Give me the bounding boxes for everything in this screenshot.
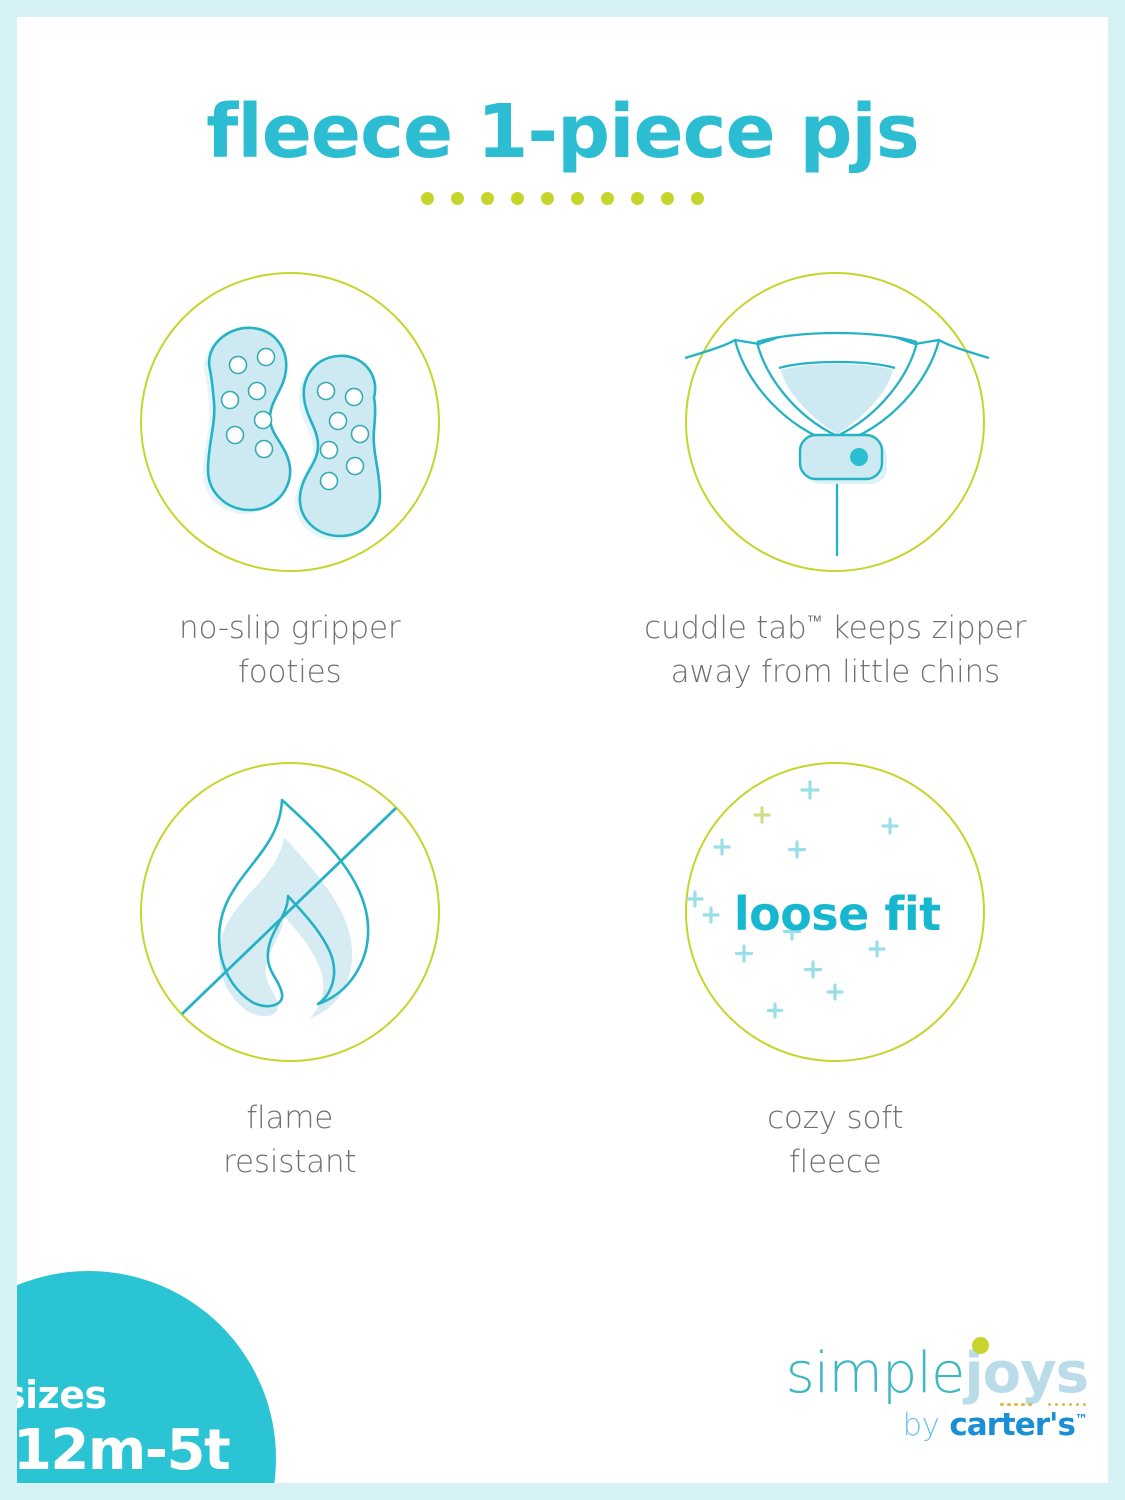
feature-cuddle-tab: cuddle tab™ keeps zipper away from littl… <box>563 272 1109 694</box>
loose-fit-badge-text: loose fit <box>687 764 987 1064</box>
caption-line-1: cuddle tab <box>644 610 806 646</box>
divider-dot <box>661 192 674 205</box>
sizes-range-line: + 12m-5t <box>17 1420 229 1482</box>
caption-line-2: away from little chins <box>671 654 1000 690</box>
feature-row-1: no-slip gripper footies <box>17 272 1108 694</box>
logo-joys: joys <box>964 1341 1088 1406</box>
feature-icon-circle <box>685 272 985 572</box>
logo-wordmark: simplejoys <box>786 1346 1088 1402</box>
logo-byline: by carter's™ <box>786 1410 1088 1441</box>
divider-dot <box>511 192 524 205</box>
cuddle-tab-zipper-icon <box>687 274 987 574</box>
feature-caption: cozy soft fleece <box>767 1096 903 1184</box>
caption-line-1: cozy soft <box>767 1100 903 1136</box>
feature-row-2: flame resistant <box>17 762 1108 1184</box>
divider-dot <box>601 192 614 205</box>
feature-caption: flame resistant <box>223 1096 356 1184</box>
feature-caption: no-slip gripper footies <box>179 606 400 694</box>
caption-line-2: resistant <box>223 1144 356 1180</box>
divider-dot <box>541 192 554 205</box>
feature-icon-circle <box>140 272 440 572</box>
page-title: fleece 1-piece pjs <box>17 89 1108 175</box>
caption-line-1: no-slip gripper <box>179 610 400 646</box>
divider-dots <box>17 192 1108 205</box>
logo-dash-group <box>1048 1403 1087 1407</box>
divider-dot <box>691 192 704 205</box>
feature-gripper-footies: no-slip gripper footies <box>17 272 563 694</box>
feature-cozy-soft-fleece: loose fit cozy soft fleece <box>563 762 1109 1184</box>
caption-line-1: flame <box>246 1100 333 1136</box>
sizes-badge: sizes + 12m-5t <box>17 1271 276 1483</box>
divider-dot <box>481 192 494 205</box>
feature-caption: cuddle tab™ keeps zipper away from littl… <box>644 606 1026 694</box>
logo-simple: simple <box>786 1341 965 1406</box>
trademark-symbol: ™ <box>807 612 823 631</box>
feature-flame-resistant: flame resistant <box>17 762 563 1184</box>
divider-dot <box>571 192 584 205</box>
logo-dash-decoration <box>1000 1403 1086 1407</box>
sizes-badge-content: sizes + 12m-5t <box>17 1376 229 1482</box>
sizes-label: sizes <box>17 1376 229 1414</box>
content-canvas: fleece 1-piece pjs <box>17 17 1108 1483</box>
logo-carters: carter's <box>949 1407 1075 1443</box>
caption-line-2: footies <box>238 654 341 690</box>
logo-dash-group <box>1000 1403 1032 1407</box>
feature-grid: no-slip gripper footies <box>17 272 1108 1184</box>
infographic-page: fleece 1-piece pjs <box>0 0 1125 1500</box>
divider-dot <box>451 192 464 205</box>
divider-dot <box>631 192 644 205</box>
no-flame-icon <box>142 764 442 1064</box>
logo-trademark: ™ <box>1075 1413 1088 1428</box>
brand-logo: simplejoys by carter's™ <box>786 1346 1088 1441</box>
caption-line-1-rest: keeps zipper <box>822 610 1026 646</box>
logo-by: by <box>902 1407 939 1443</box>
feature-icon-circle <box>140 762 440 1062</box>
sizes-range: 12m-5t <box>17 1423 229 1479</box>
divider-dot <box>421 192 434 205</box>
feature-icon-circle: loose fit <box>685 762 985 1062</box>
caption-line-2: fleece <box>789 1144 882 1180</box>
gripper-footies-icon <box>142 274 442 574</box>
